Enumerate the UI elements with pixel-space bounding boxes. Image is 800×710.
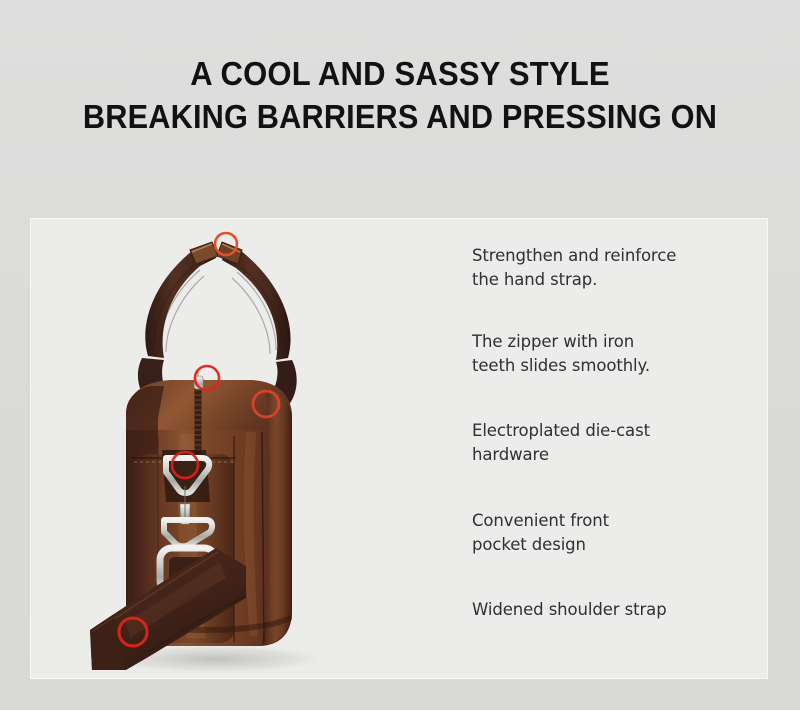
feature-shoulder-strap: Widened shoulder strap <box>472 598 762 622</box>
feature-hand-strap-line-1: Strengthen and reinforce <box>472 244 762 268</box>
feature-front-pocket: Convenient front pocket design <box>472 509 762 556</box>
product-photo <box>30 218 460 679</box>
feature-zipper-line-1: The zipper with iron <box>472 330 762 354</box>
feature-hardware-line-2: hardware <box>472 443 762 467</box>
feature-list: Strengthen and reinforce the hand strap.… <box>472 244 762 622</box>
headline-line-1: A COOL AND SASSY STYLE <box>24 52 776 95</box>
feature-zipper-line-2: teeth slides smoothly. <box>472 354 762 378</box>
headline-line-2: BREAKING BARRIERS AND PRESSING ON <box>28 95 772 138</box>
product-feature-banner: A COOL AND SASSY STYLE BREAKING BARRIERS… <box>0 0 800 710</box>
feature-front-pocket-line-1: Convenient front <box>472 509 762 533</box>
content-panel: Strengthen and reinforce the hand strap.… <box>30 218 768 679</box>
feature-front-pocket-line-2: pocket design <box>472 533 762 557</box>
headline: A COOL AND SASSY STYLE BREAKING BARRIERS… <box>0 52 800 138</box>
feature-shoulder-strap-line-1: Widened shoulder strap <box>472 598 762 622</box>
feature-hand-strap: Strengthen and reinforce the hand strap. <box>472 244 762 291</box>
feature-hand-strap-line-2: the hand strap. <box>472 268 762 292</box>
feature-hardware-line-1: Electroplated die-cast <box>472 419 762 443</box>
feature-hardware: Electroplated die-cast hardware <box>472 419 762 466</box>
feature-zipper: The zipper with iron teeth slides smooth… <box>472 330 762 377</box>
